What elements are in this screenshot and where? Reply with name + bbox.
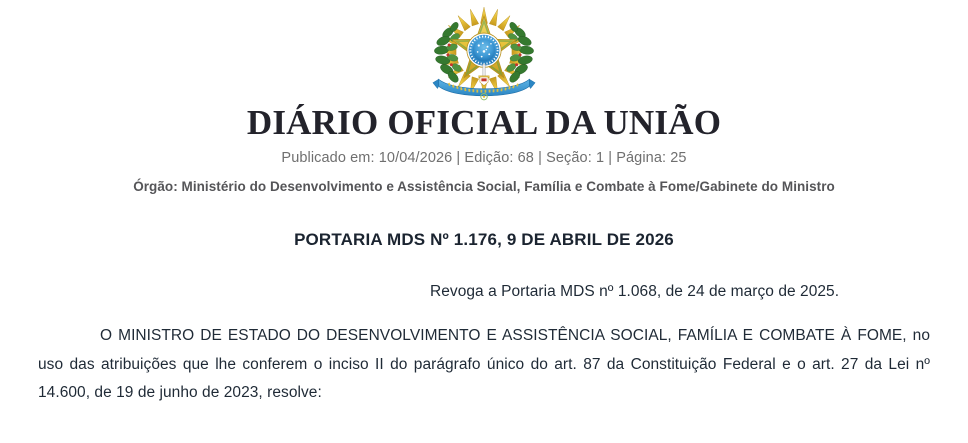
page-title: DIÁRIO OFICIAL DA UNIÃO	[0, 104, 968, 144]
ementa-text: Revoga a Portaria MDS nº 1.068, de 24 de…	[430, 281, 930, 302]
brazil-coat-of-arms-icon	[425, 6, 543, 106]
ementa-container: Revoga a Portaria MDS nº 1.068, de 24 de…	[38, 251, 930, 302]
act-title: PORTARIA MDS Nº 1.176, 9 DE ABRIL DE 202…	[38, 196, 930, 251]
document-page: DIÁRIO OFICIAL DA UNIÃO Publicado em: 10…	[0, 0, 968, 443]
publication-meta: Publicado em: 10/04/2026 | Edição: 68 | …	[0, 144, 968, 168]
emblem-container	[0, 0, 968, 104]
act-container: PORTARIA MDS Nº 1.176, 9 DE ABRIL DE 202…	[0, 196, 968, 408]
emblem-disc	[467, 33, 501, 67]
act-body-paragraph: O MINISTRO DE ESTADO DO DESENVOLVIMENTO …	[38, 302, 930, 408]
organ-line: Órgão: Ministério do Desenvolvimento e A…	[0, 168, 968, 196]
